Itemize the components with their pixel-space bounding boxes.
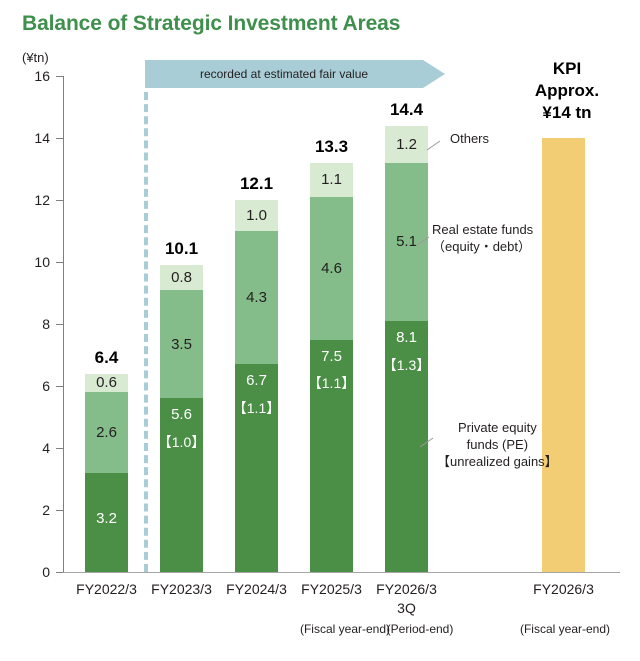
- callout-others: Others: [450, 131, 489, 148]
- kpi-target-label: KPI Approx. ¥14 tn: [512, 58, 622, 124]
- callout-private-equity-funds: Private equity funds (PE) 【unrealized ga…: [437, 420, 558, 471]
- chart-plot-area: 0246810121416 recorded at estimated fair…: [0, 0, 640, 661]
- callout-real-estate-funds: Real estate funds （equity・debt）: [432, 222, 533, 256]
